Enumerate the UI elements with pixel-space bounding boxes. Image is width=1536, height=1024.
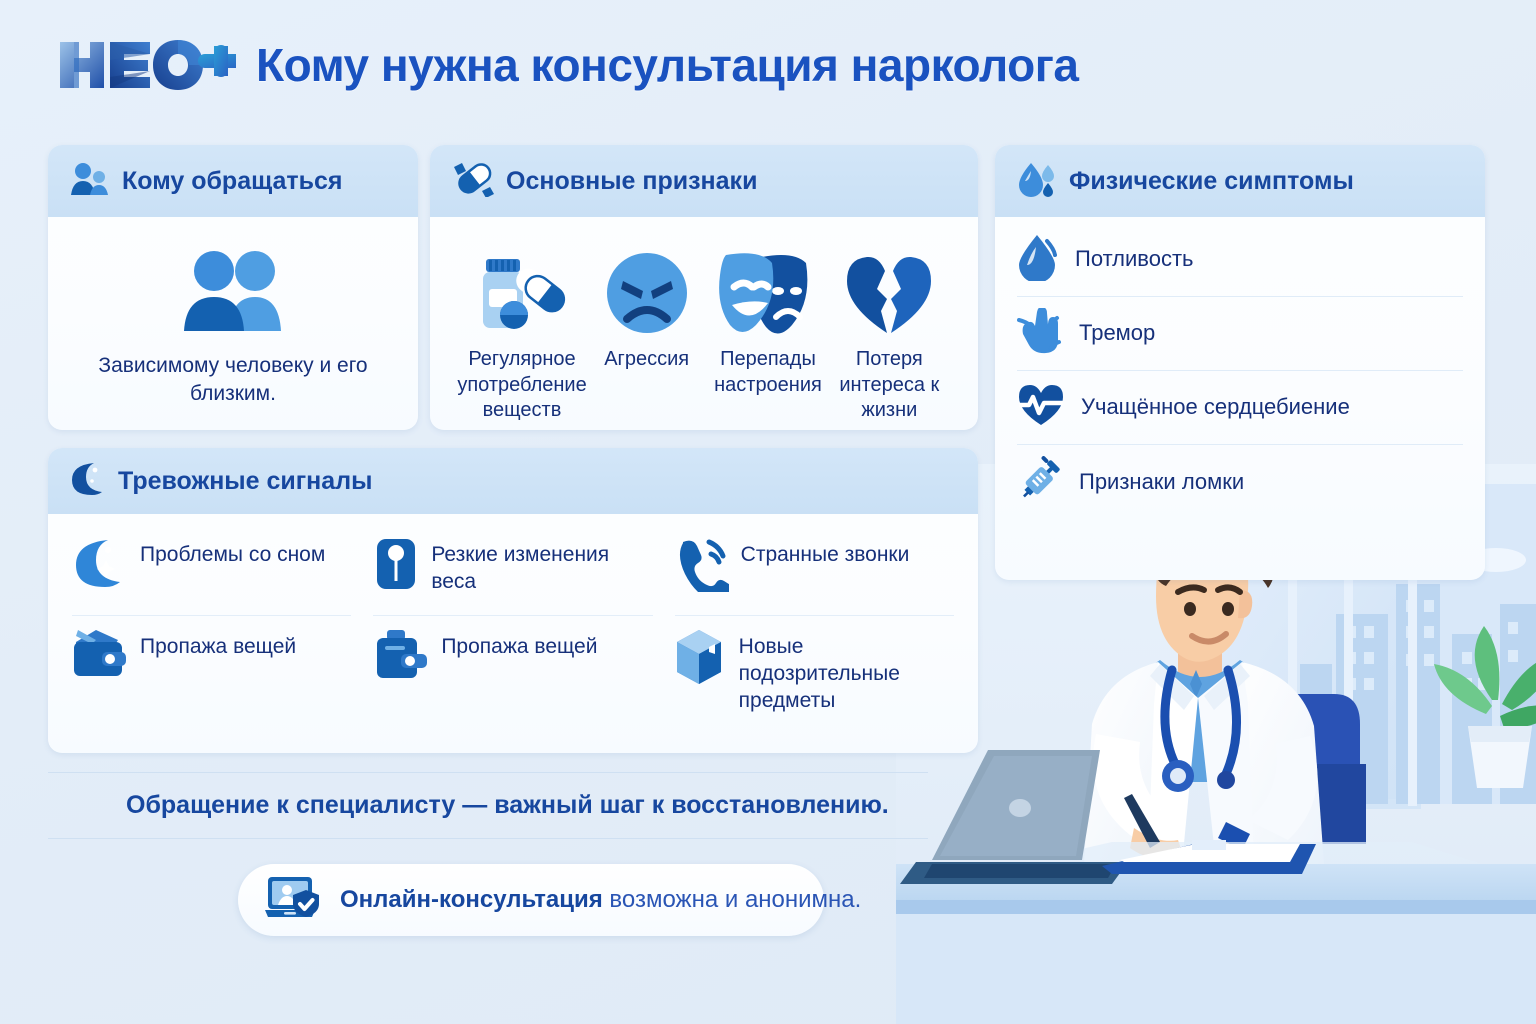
sign-item: Агрессия bbox=[586, 249, 707, 373]
sign-label: Перепады настроения bbox=[707, 347, 828, 398]
card-audience-title: Кому обращаться bbox=[122, 167, 343, 196]
page-header: Кому нужна консультация нарколога bbox=[56, 36, 1078, 94]
droplet-icon bbox=[1017, 233, 1059, 286]
theater-masks-icon bbox=[716, 249, 820, 335]
card-physical: Физические симптомы Потливость bbox=[995, 145, 1485, 580]
card-alarm: Тревожные сигналы Проблемы со сном bbox=[48, 448, 978, 753]
card-physical-title: Физические симптомы bbox=[1069, 167, 1354, 196]
pill-bottle-icon bbox=[470, 249, 574, 335]
alarm-label: Новые подозрительные предметы bbox=[739, 628, 954, 715]
card-physical-header: Физические симптомы bbox=[995, 145, 1485, 217]
sign-item: Перепады настроения bbox=[707, 249, 828, 398]
symptom-label: Признаки ломки bbox=[1079, 469, 1244, 496]
card-audience-text: Зависимому человеку и его близким. bbox=[70, 352, 396, 407]
online-consultation-pill[interactable]: Онлайн-консультация возможна и анонимна. bbox=[238, 864, 824, 936]
people-icon bbox=[70, 162, 110, 201]
card-signs-body: Регулярное употребление веществ Агрессия bbox=[430, 217, 978, 430]
card-audience-body: Зависимому человеку и его близким. bbox=[48, 217, 418, 427]
alarm-row-top: Проблемы со сном Резкие изменения веса bbox=[72, 524, 954, 616]
footer-note: Обращение к специалисту — важный шаг к в… bbox=[48, 772, 928, 839]
trembling-hand-icon bbox=[1017, 308, 1063, 359]
laptop-check-icon bbox=[264, 874, 324, 927]
alarm-item: Странные звонки bbox=[675, 524, 954, 616]
water-drops-icon bbox=[1017, 161, 1057, 202]
pill-text-rest: возможна и анонимна. bbox=[603, 886, 862, 913]
symptom-label: Потливость bbox=[1075, 246, 1194, 273]
pills-icon bbox=[452, 161, 494, 202]
moon-icon bbox=[70, 461, 106, 502]
card-signs-header: Основные признаки bbox=[430, 145, 978, 217]
sign-label: Регулярное употребление веществ bbox=[457, 347, 586, 424]
card-signs-title: Основные признаки bbox=[506, 167, 757, 196]
broken-heart-icon bbox=[843, 249, 935, 335]
bag-icon bbox=[373, 628, 429, 685]
alarm-item: Проблемы со сном bbox=[72, 524, 351, 616]
alarm-item: Пропажа вещей bbox=[373, 616, 652, 715]
list-item: Потливость bbox=[1017, 223, 1463, 297]
weight-scale-icon bbox=[373, 536, 419, 597]
sign-item: Регулярное употребление веществ bbox=[458, 249, 586, 424]
alarm-row-bottom: Пропажа вещей Пропажа вещей bbox=[72, 616, 954, 715]
sign-label: Потеря интереса к жизни bbox=[829, 347, 950, 424]
alarm-label: Пропажа вещей bbox=[441, 628, 597, 661]
angry-face-icon bbox=[605, 249, 689, 335]
alarm-label: Пропажа вещей bbox=[140, 628, 296, 661]
alarm-item: Резкие изменения веса bbox=[373, 524, 652, 616]
alarm-item: Новые подозрительные предметы bbox=[675, 616, 954, 715]
card-audience-header: Кому обращаться bbox=[48, 145, 418, 217]
alarm-label: Резкие изменения веса bbox=[431, 536, 652, 596]
symptom-label: Учащённое сердцебиение bbox=[1081, 394, 1350, 421]
list-item: Признаки ломки bbox=[1017, 445, 1463, 519]
package-box-icon bbox=[675, 628, 727, 691]
card-signs: Основные признаки bbox=[430, 145, 978, 430]
two-persons-icon bbox=[170, 249, 296, 338]
pill-text-strong: Онлайн-консультация bbox=[340, 886, 603, 913]
list-item: Учащённое сердцебиение bbox=[1017, 371, 1463, 445]
card-audience: Кому обращаться Зависимому человеку и ег… bbox=[48, 145, 418, 430]
card-alarm-body: Проблемы со сном Резкие изменения веса bbox=[48, 514, 978, 731]
sign-label: Агрессия bbox=[604, 347, 689, 373]
card-physical-body: Потливость Тремор Учащённое сердцеби bbox=[995, 217, 1485, 529]
moon-stars-icon bbox=[72, 536, 128, 597]
alarm-label: Странные звонки bbox=[741, 536, 910, 569]
card-alarm-title: Тревожные сигналы bbox=[118, 467, 372, 496]
sign-item: Потеря интереса к жизни bbox=[829, 249, 950, 424]
symptom-label: Тремор bbox=[1079, 320, 1155, 347]
page-title: Кому нужна консультация нарколога bbox=[256, 38, 1078, 92]
syringe-icon bbox=[1017, 456, 1063, 509]
card-alarm-header: Тревожные сигналы bbox=[48, 448, 978, 514]
wallet-icon bbox=[72, 628, 128, 685]
phone-ringing-icon bbox=[675, 536, 729, 597]
brand-logo bbox=[56, 36, 236, 94]
heart-pulse-icon bbox=[1017, 383, 1065, 432]
alarm-item: Пропажа вещей bbox=[72, 616, 351, 715]
pill-text: Онлайн-консультация возможна и анонимна. bbox=[340, 886, 861, 914]
alarm-label: Проблемы со сном bbox=[140, 536, 325, 569]
list-item: Тремор bbox=[1017, 297, 1463, 371]
